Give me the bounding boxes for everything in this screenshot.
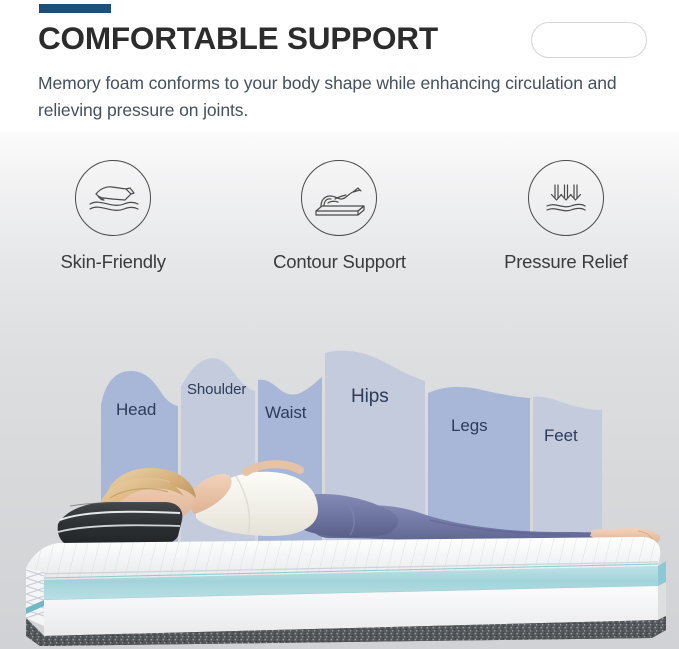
feature-list: Skin-Friendly Contour Support bbox=[0, 160, 679, 280]
mattress bbox=[26, 537, 666, 646]
feature-item-contour-support: Contour Support bbox=[226, 160, 452, 280]
feature-item-skin-friendly: Skin-Friendly bbox=[0, 160, 226, 280]
feature-label: Pressure Relief bbox=[504, 251, 627, 273]
zone-label-waist: Waist bbox=[265, 403, 306, 423]
contour-pillow bbox=[58, 502, 183, 548]
zone-label-head: Head bbox=[116, 400, 156, 420]
subtitle: Memory foam conforms to your body shape … bbox=[38, 70, 654, 124]
feature-label: Contour Support bbox=[273, 251, 406, 273]
product-feature-panel: COMFORTABLE SUPPORT Memory foam conforms… bbox=[0, 0, 679, 649]
hand-on-foam-icon bbox=[75, 160, 151, 236]
header: COMFORTABLE SUPPORT Memory foam conforms… bbox=[0, 0, 679, 132]
page-title: COMFORTABLE SUPPORT bbox=[38, 19, 438, 57]
feature-item-pressure-relief: Pressure Relief bbox=[453, 160, 679, 280]
zone-label-shoulder: Shoulder bbox=[187, 381, 246, 398]
accent-bar bbox=[39, 4, 111, 13]
mattress-scene bbox=[0, 440, 679, 649]
downward-arrows-waves-icon bbox=[528, 160, 604, 236]
title-badge bbox=[531, 22, 647, 58]
feature-label: Skin-Friendly bbox=[60, 251, 165, 273]
person-on-mattress-icon bbox=[301, 160, 377, 236]
zone-label-legs: Legs bbox=[451, 416, 487, 436]
person-illustration bbox=[98, 464, 660, 547]
zone-label-hips: Hips bbox=[351, 386, 389, 408]
